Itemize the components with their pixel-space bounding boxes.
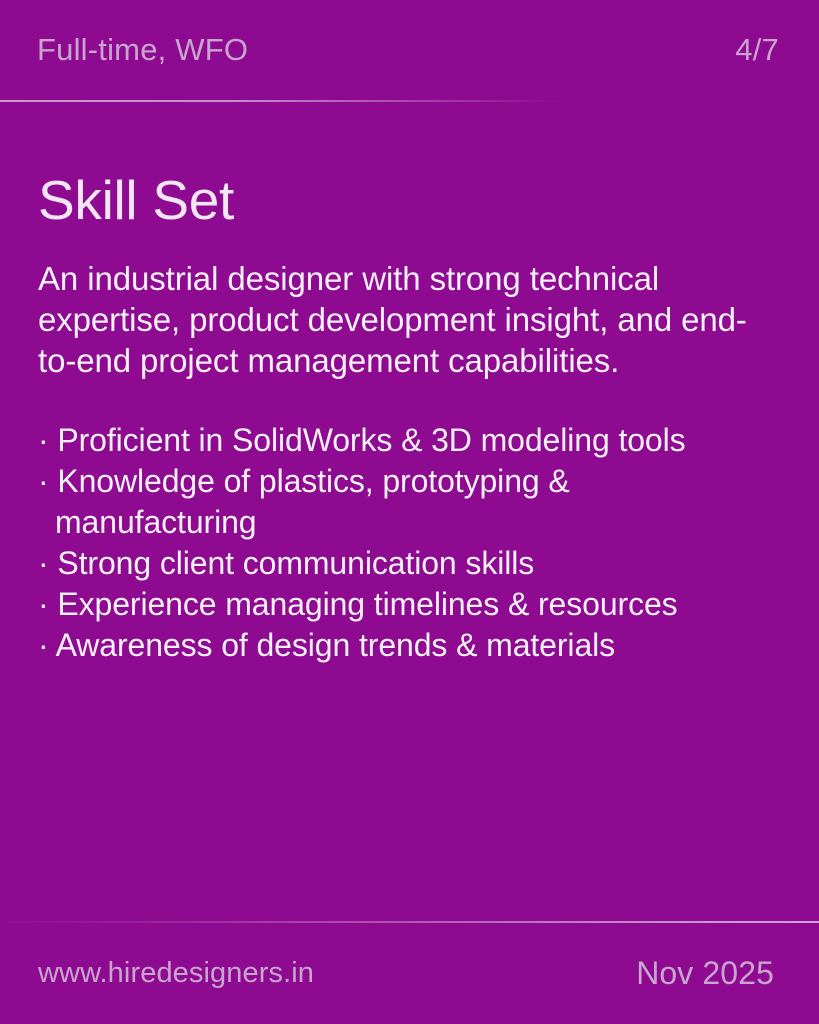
list-item-label: Awareness of design trends & materials — [56, 627, 615, 663]
bullet-dot-icon: · — [38, 463, 49, 499]
website-url[interactable]: www.hiredesigners.in — [38, 957, 314, 990]
skills-list: · Proficient in SolidWorks & 3D modeling… — [38, 381, 768, 666]
list-item: · Strong client communication skills — [38, 543, 768, 584]
footer-content-row: www.hiredesigners.in Nov 2025 — [38, 923, 774, 1024]
page-title: Skill Set — [38, 104, 779, 230]
header-divider — [0, 100, 560, 102]
list-item-label: Strong client communication skills — [57, 545, 534, 581]
list-item: · Experience managing timelines & resour… — [38, 584, 768, 625]
list-item-label: Knowledge of plastics, prototyping & man… — [55, 463, 570, 540]
publish-date: Nov 2025 — [636, 955, 774, 992]
list-item: · Awareness of design trends & materials — [38, 625, 768, 666]
employment-type-label: Full-time, WFO — [37, 32, 248, 68]
bullet-dot-icon: · — [38, 586, 49, 622]
slide-footer: www.hiredesigners.in Nov 2025 — [0, 921, 819, 1024]
intro-paragraph: An industrial designer with strong techn… — [38, 230, 753, 381]
bullet-dot-icon: · — [38, 545, 49, 581]
bullet-dot-icon: · — [38, 627, 49, 663]
slide-body: Skill Set An industrial designer with st… — [0, 104, 819, 921]
slide-counter: 4/7 — [735, 32, 779, 68]
header-content-row: Full-time, WFO 4/7 — [37, 0, 779, 100]
list-item: · Knowledge of plastics, prototyping & m… — [38, 461, 768, 543]
list-item: · Proficient in SolidWorks & 3D modeling… — [38, 420, 768, 461]
bullet-dot-icon: · — [38, 422, 49, 458]
slide-card: Full-time, WFO 4/7 Skill Set An industri… — [0, 0, 819, 1024]
slide-header: Full-time, WFO 4/7 — [0, 0, 819, 104]
list-item-label: Proficient in SolidWorks & 3D modeling t… — [57, 422, 685, 458]
list-item-label: Experience managing timelines & resource… — [57, 586, 677, 622]
